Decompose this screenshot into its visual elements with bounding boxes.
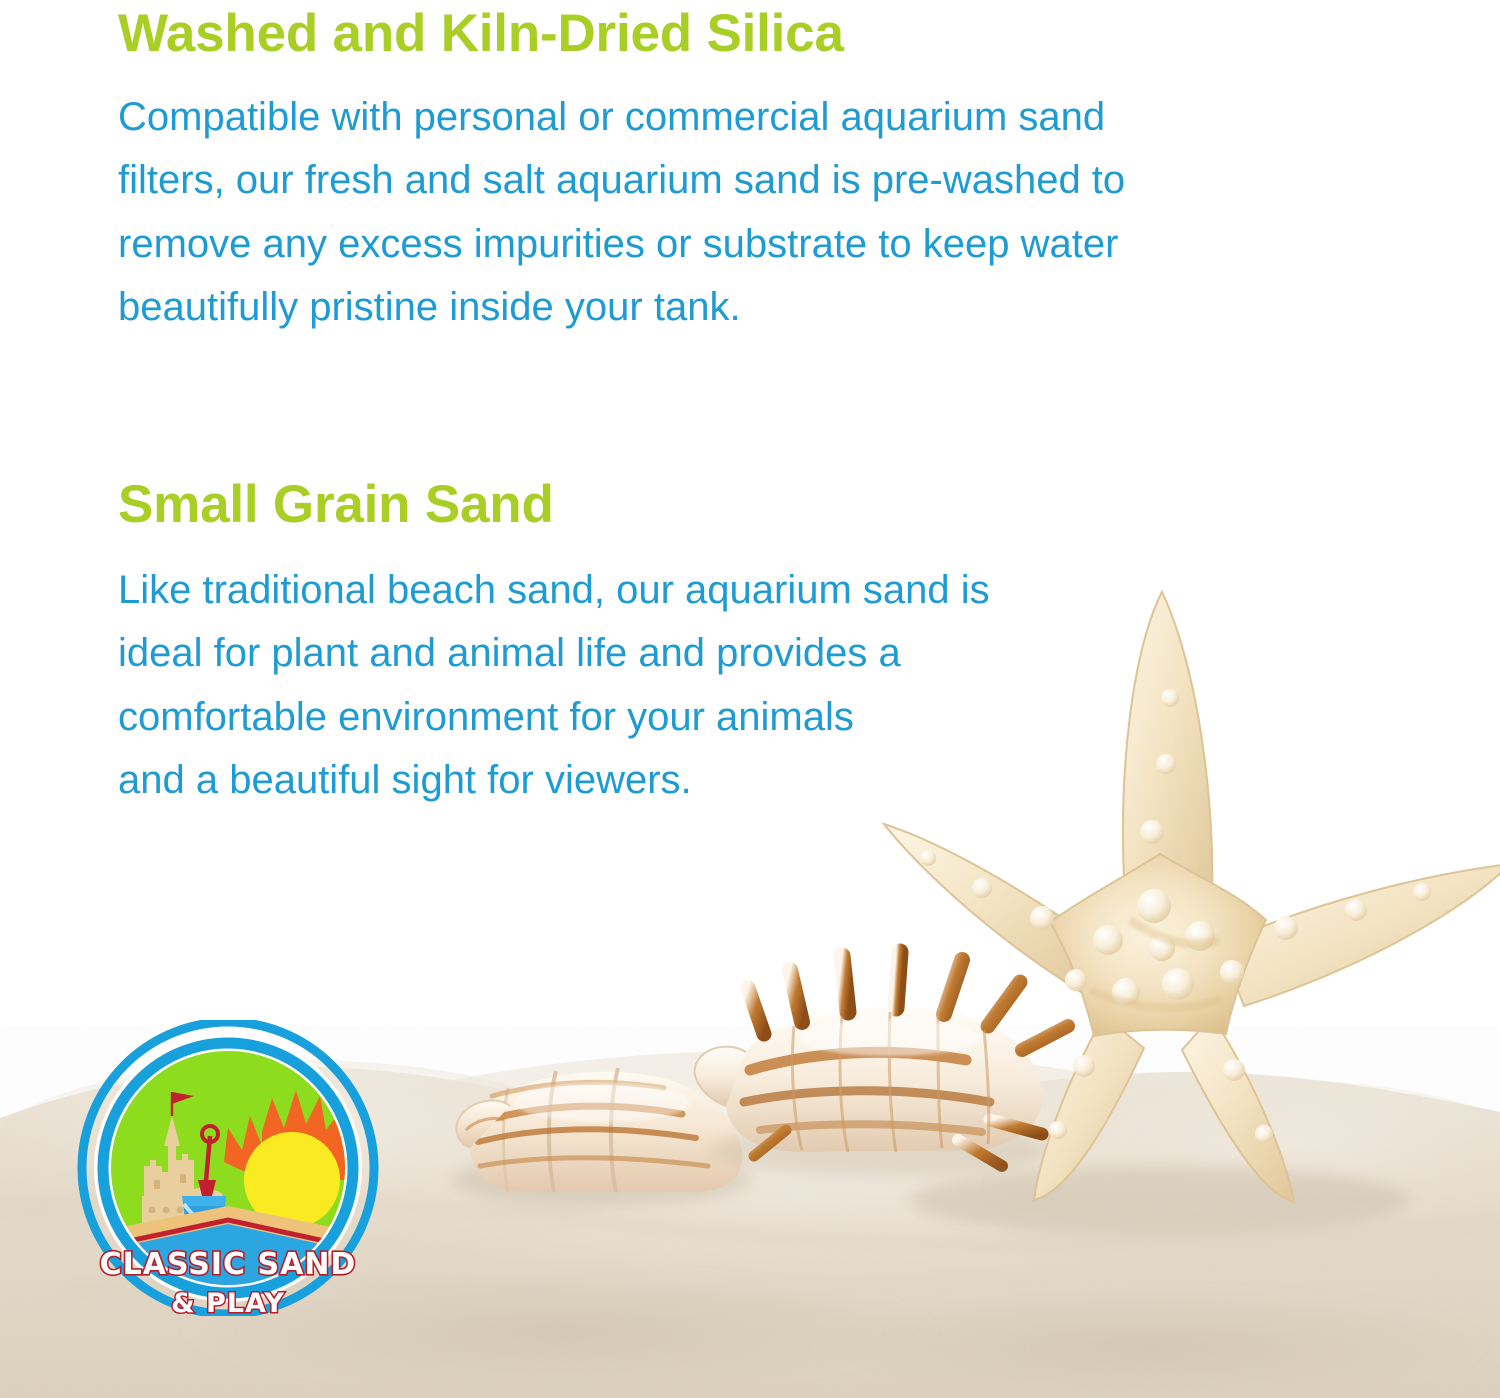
section-washed-kiln-dried-silica: Washed and Kiln-Dried Silica Compatible … <box>118 6 1378 339</box>
body-line: comfortable environment for your animals <box>118 686 1238 749</box>
spiral-snail-shell <box>452 1068 752 1206</box>
body-line: ideal for plant and animal life and prov… <box>118 622 1238 685</box>
classic-sand-and-play-logo: CLASSIC SAND & PLAY <box>76 1020 380 1316</box>
logo-wordmark-bottom: & PLAY <box>171 1288 285 1316</box>
body-line: filters, our fresh and salt aquarium san… <box>118 149 1378 212</box>
body-line: beautifully pristine inside your tank. <box>118 276 1378 339</box>
section-body-small-grain-sand: Like traditional beach sand, our aquariu… <box>118 559 1238 812</box>
body-line: Compatible with personal or commercial a… <box>118 86 1378 149</box>
section-heading-silica: Washed and Kiln-Dried Silica <box>118 6 1378 62</box>
section-heading-small-grain-sand: Small Grain Sand <box>118 477 1238 533</box>
section-small-grain-sand: Small Grain Sand Like traditional beach … <box>118 477 1238 812</box>
logo-wordmark-top: CLASSIC SAND <box>100 1247 357 1282</box>
body-line: Like traditional beach sand, our aquariu… <box>118 559 1238 622</box>
body-line: remove any excess impurities or substrat… <box>118 213 1378 276</box>
product-feature-panel: Washed and Kiln-Dried Silica Compatible … <box>0 0 1500 1398</box>
section-body-silica: Compatible with personal or commercial a… <box>118 86 1378 339</box>
body-line: and a beautiful sight for viewers. <box>118 749 1238 812</box>
spiky-murex-shell <box>695 952 1068 1176</box>
